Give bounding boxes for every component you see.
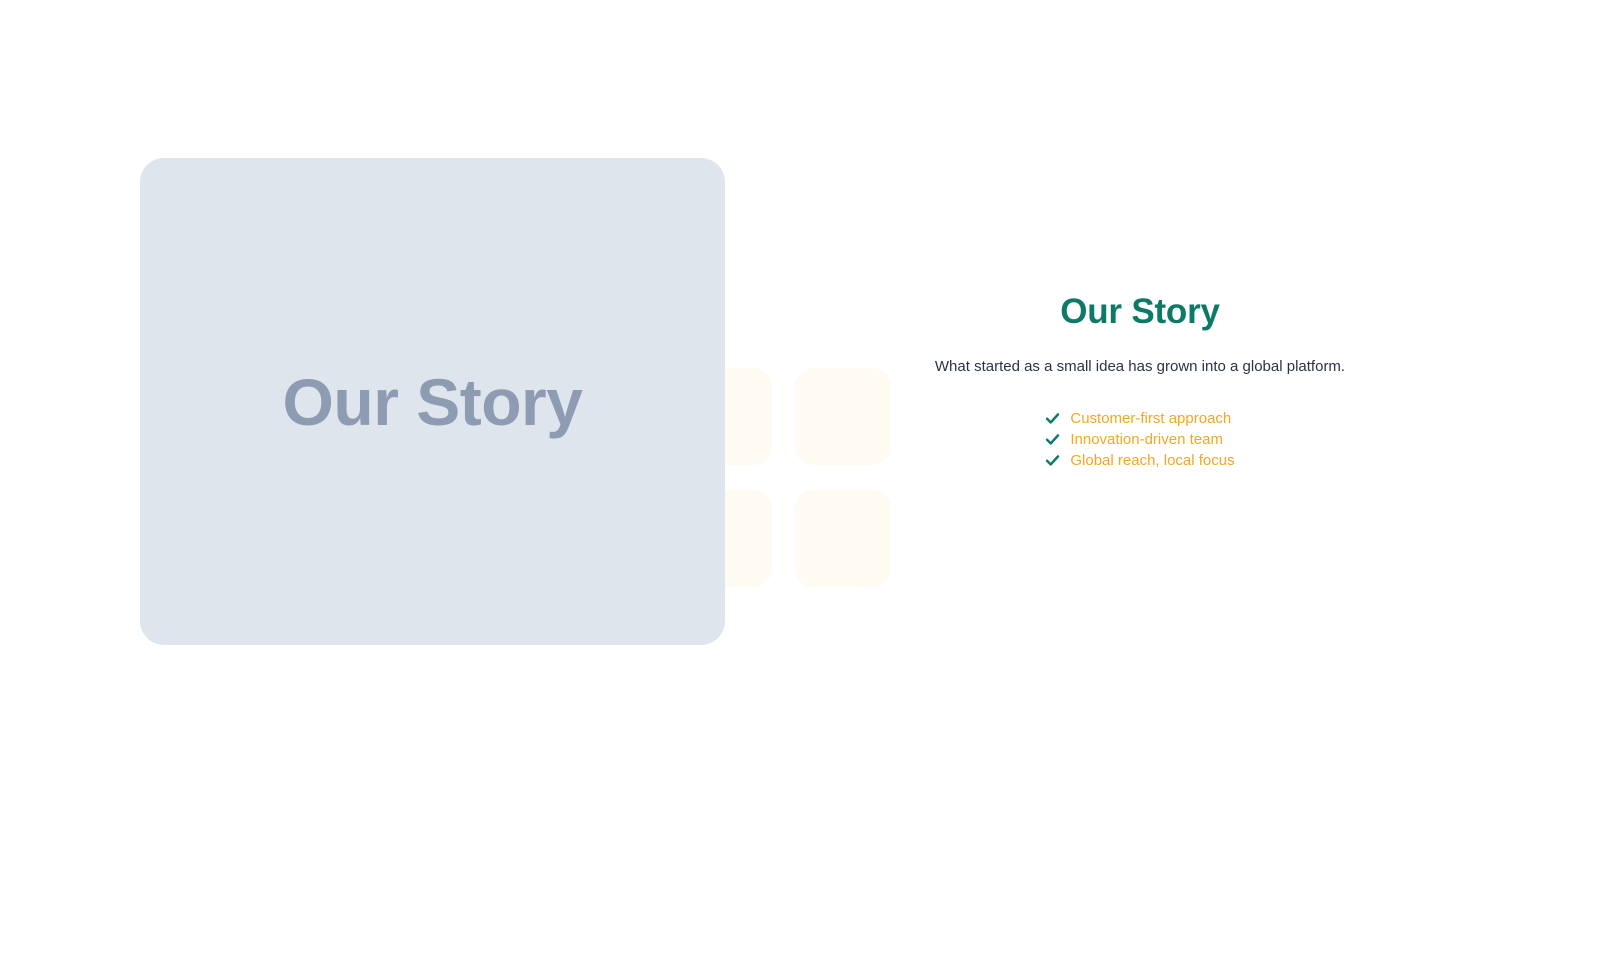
check-icon bbox=[1045, 411, 1060, 426]
section-description: What started as a small idea has grown i… bbox=[905, 356, 1375, 379]
feature-label: Innovation-driven team bbox=[1070, 429, 1223, 450]
page-root: Our Story Our Story What started as a sm… bbox=[0, 0, 1600, 978]
decorative-tile bbox=[795, 490, 891, 587]
check-icon bbox=[1045, 453, 1060, 468]
feature-label: Global reach, local focus bbox=[1070, 450, 1234, 471]
feature-list-item: Customer-first approach bbox=[1045, 408, 1231, 429]
feature-label: Customer-first approach bbox=[1070, 408, 1231, 429]
media-placeholder: Our Story bbox=[140, 158, 725, 645]
feature-list: Customer-first approach Innovation-drive… bbox=[1045, 408, 1234, 471]
feature-list-item: Innovation-driven team bbox=[1045, 429, 1223, 450]
media-placeholder-label: Our Story bbox=[283, 369, 583, 435]
feature-list-item: Global reach, local focus bbox=[1045, 450, 1234, 471]
section-heading: Our Story bbox=[905, 290, 1375, 334]
decorative-tile bbox=[795, 368, 891, 465]
check-icon bbox=[1045, 432, 1060, 447]
content-column: Our Story What started as a small idea h… bbox=[905, 290, 1375, 471]
